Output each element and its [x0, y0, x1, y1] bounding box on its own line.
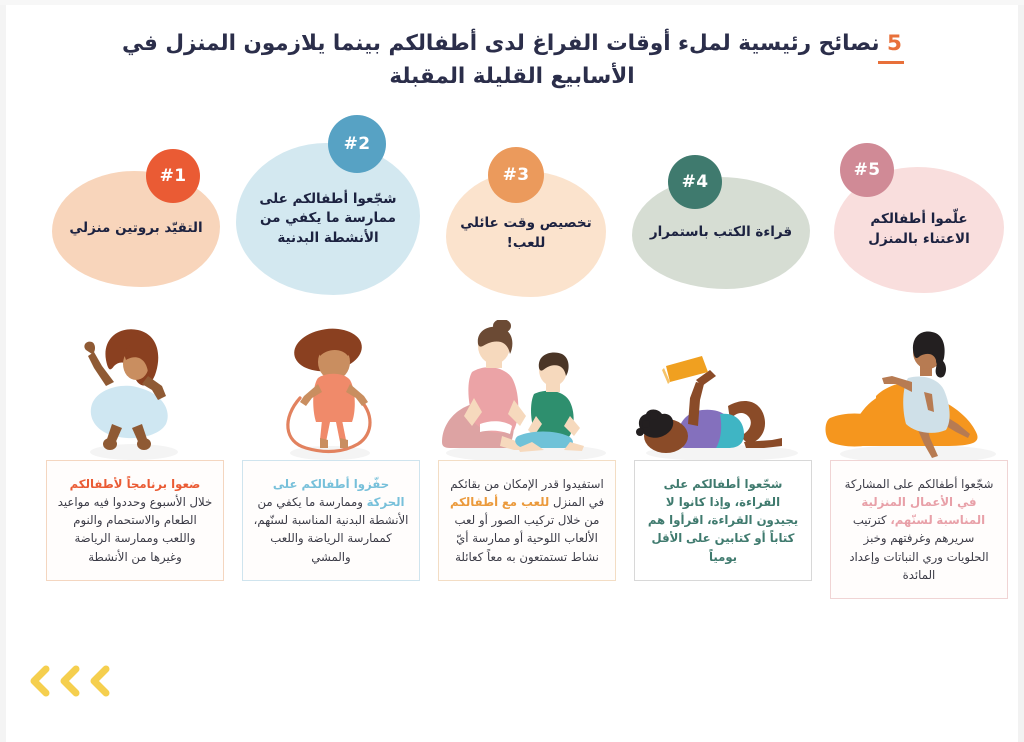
- tip-card-3: استفيدوا قدر الإمكان من بقائكم في المنزل…: [438, 460, 616, 581]
- bubble-zone-3: تخصيص وقت عائلي للعب! #3: [428, 105, 624, 320]
- card-line-highlight: للعب مع: [502, 495, 549, 509]
- illustration-girl-making-bed: [820, 320, 1016, 470]
- bubble-zone-5: علّموا أطفالكم الاعتناء بالمنزل #5: [820, 105, 1016, 320]
- card-line-highlight: ضعوا برنامجاً لأطفالكم: [70, 477, 201, 491]
- bubble-label-5: علّموا أطفالكم الاعتناء بالمنزل: [834, 210, 1004, 249]
- card-line: وممارسة ما يكفي من: [257, 495, 362, 509]
- tip-card-4: شجّعوا أطفالكم على القراءة، وإذا كانوا ل…: [634, 460, 812, 581]
- illustration-child-reading-book: [624, 320, 820, 470]
- tip-column-5: علّموا أطفالكم الاعتناء بالمنزل #5: [820, 105, 1016, 635]
- tip-column-3: تخصيص وقت عائلي للعب! #3: [428, 105, 624, 635]
- bubble-label-4: قراءة الكتب باستمرار: [636, 223, 806, 243]
- tip-column-1: التقيّد بروتين منزلي #1: [36, 105, 232, 635]
- tip-column-4: قراءة الكتب باستمرار #4: [624, 105, 820, 635]
- illustration-mother-and-child-playing: [428, 320, 624, 470]
- bubble-label-3: تخصيص وقت عائلي للعب!: [446, 214, 606, 253]
- tip-card-1: ضعوا برنامجاً لأطفالكم خلال الأسبوع وحدد…: [46, 460, 224, 581]
- card-line: من خلال تركيب: [524, 513, 600, 527]
- card-line: استفيدوا قدر الإمكان من: [484, 477, 603, 491]
- card-line: الأنشطة البدنية المناسبة: [292, 513, 409, 527]
- card-line: به معاً كعائلة: [455, 550, 516, 564]
- bubble-zone-1: التقيّد بروتين منزلي #1: [36, 105, 232, 320]
- card-line-highlight: أطفالكم: [450, 495, 498, 509]
- page-top-edge: [0, 0, 1024, 5]
- chevron-left-icon[interactable]: [28, 665, 50, 697]
- tip-column-2: شجّعوا أطفالكم على ممارسة ما يكفي من الأ…: [232, 105, 428, 635]
- bubble-blob-2[interactable]: شجّعوا أطفالكم على ممارسة ما يكفي من الأ…: [236, 143, 420, 295]
- bubble-zone-4: قراءة الكتب باستمرار #4: [624, 105, 820, 320]
- card-line: خلال الأسبوع وحددوا فيه: [94, 495, 213, 509]
- illustration-girl-jumping: [36, 320, 232, 470]
- badge-2[interactable]: #2: [328, 115, 386, 173]
- bubble-blob-4[interactable]: قراءة الكتب باستمرار: [632, 177, 810, 289]
- chevron-group[interactable]: [28, 665, 110, 697]
- title-text: نصائح رئيسية لملء أوقات الفراغ لدى أطفال…: [122, 31, 887, 89]
- tips-row: علّموا أطفالكم الاعتناء بالمنزل #5: [0, 105, 1024, 635]
- tip-card-2: حفّزوا أطفالكم على الحركة وممارسة ما يكف…: [242, 460, 420, 581]
- tip-card-5: شجّعوا أطفالكم على المشاركة في الأعمال ا…: [830, 460, 1008, 599]
- page-title: 5 نصائح رئيسية لملء أوقات الفراغ لدى أطف…: [0, 28, 1024, 92]
- illustration-child-jumping-rope: [232, 320, 428, 470]
- infographic-page: 5 نصائح رئيسية لملء أوقات الفراغ لدى أطف…: [0, 0, 1024, 742]
- bubble-zone-2: شجّعوا أطفالكم على ممارسة ما يكفي من الأ…: [232, 105, 428, 320]
- badge-3[interactable]: #3: [488, 147, 544, 203]
- bubble-label-2: شجّعوا أطفالكم على ممارسة ما يكفي من الأ…: [236, 190, 420, 249]
- card-line: شجّعوا أطفالكم على المشاركة: [845, 477, 994, 491]
- badge-1[interactable]: #1: [146, 149, 200, 203]
- bubble-label-1: التقيّد بروتين منزلي: [55, 219, 216, 239]
- chevron-left-icon[interactable]: [58, 665, 80, 697]
- card-line-highlight: لسنّهم،: [890, 513, 932, 527]
- chevron-left-icon[interactable]: [88, 665, 110, 697]
- badge-5[interactable]: #5: [840, 143, 894, 197]
- title-number: 5: [887, 28, 902, 61]
- badge-4[interactable]: #4: [668, 155, 722, 209]
